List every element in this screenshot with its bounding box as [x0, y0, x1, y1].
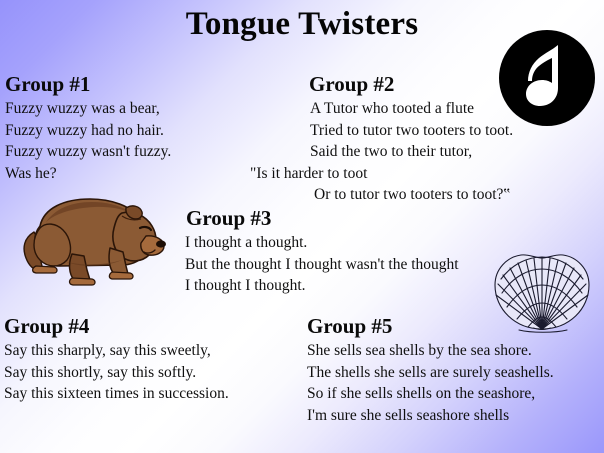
- twister-line: Fuzzy wuzzy had no hair.: [5, 120, 171, 142]
- tongue-twisters-poster: Tongue Twisters Group #1 Fuzzy wuzzy was…: [0, 0, 604, 453]
- group-lines-1: Fuzzy wuzzy was a bear, Fuzzy wuzzy had …: [5, 98, 171, 184]
- twister-line: I thought a thought.: [185, 232, 459, 254]
- twister-line: I thought I thought.: [185, 275, 459, 297]
- twister-line: Say this sixteen times in succession.: [4, 383, 229, 405]
- group-block-5: Group #5 She sells sea shells by the sea…: [307, 314, 554, 426]
- group-heading-1: Group #1: [5, 72, 171, 96]
- group-heading-4: Group #4: [4, 314, 229, 338]
- twister-line: I'm sure she sells seashore shells: [307, 405, 554, 427]
- group-heading-3: Group #3: [186, 206, 459, 230]
- twister-line: But the thought I thought wasn't the tho…: [185, 254, 459, 276]
- twister-line: Say this sharply, say this sweetly,: [4, 340, 229, 362]
- twister-line: Say this shortly, say this softly.: [4, 362, 229, 384]
- group-block-1: Group #1 Fuzzy wuzzy was a bear, Fuzzy w…: [5, 72, 171, 184]
- group-heading-5: Group #5: [307, 314, 554, 338]
- group-block-3: Group #3 I thought a thought. But the th…: [186, 206, 459, 297]
- twister-line: "Is it harder to toot: [250, 163, 513, 185]
- twister-line: She sells sea shells by the sea shore.: [307, 340, 554, 362]
- twister-line: The shells she sells are surely seashell…: [307, 362, 554, 384]
- group-heading-2: Group #2: [309, 72, 513, 96]
- twister-line: Was he?: [5, 163, 171, 185]
- twister-line: Said the two to their tutor,: [310, 141, 513, 163]
- twister-line: Fuzzy wuzzy wasn't fuzzy.: [5, 141, 171, 163]
- group-lines-4: Say this sharply, say this sweetly, Say …: [4, 340, 229, 405]
- group-block-2: Group #2 A Tutor who tooted a flute Trie…: [250, 72, 513, 206]
- twister-line: So if she sells shells on the seashore,: [307, 383, 554, 405]
- group-block-4: Group #4 Say this sharply, say this swee…: [4, 314, 229, 405]
- group-lines-3: I thought a thought. But the thought I t…: [185, 232, 459, 297]
- bear-illustration: [10, 186, 170, 291]
- twister-line: Or to tutor two tooters to toot?‟: [314, 184, 513, 206]
- group-lines-5: She sells sea shells by the sea shore. T…: [307, 340, 554, 426]
- group-lines-2: A Tutor who tooted a flute Tried to tuto…: [250, 98, 513, 206]
- twister-line: Fuzzy wuzzy was a bear,: [5, 98, 171, 120]
- twister-line: Tried to tutor two tooters to toot.: [310, 120, 513, 142]
- twister-line: A Tutor who tooted a flute: [310, 98, 513, 120]
